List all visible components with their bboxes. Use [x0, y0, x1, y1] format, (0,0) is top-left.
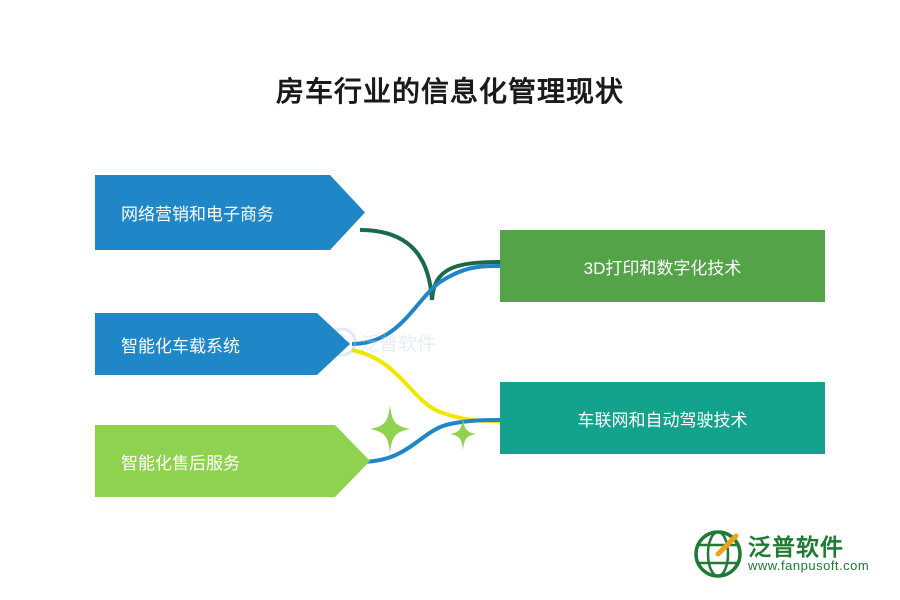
left-item-1-label: 智能化车载系统	[121, 332, 240, 357]
brand-logo: 泛普软件 www.fanpusoft.com	[692, 526, 882, 582]
left-item-0-label: 网络营销和电子商务	[121, 200, 274, 225]
right-item-1-label: 车联网和自动驾驶技术	[578, 406, 748, 431]
left-item-0[interactable]: 网络营销和电子商务	[95, 175, 365, 250]
left-item-1[interactable]: 智能化车载系统	[95, 313, 350, 375]
right-item-1[interactable]: 车联网和自动驾驶技术	[500, 382, 825, 454]
left-item-2[interactable]: 智能化售后服务	[95, 425, 370, 497]
right-item-0[interactable]: 3D打印和数字化技术	[500, 230, 825, 302]
diagram-canvas: 房车行业的信息化管理现状 泛普软件 网络营销和电子商务 智能化车载系统	[0, 0, 900, 600]
logo-url: www.fanpusoft.com	[748, 558, 869, 573]
right-item-0-label: 3D打印和数字化技术	[584, 254, 742, 279]
sparkle-icon	[450, 418, 476, 450]
logo-name: 泛普软件	[748, 528, 844, 562]
svg-text:泛普软件: 泛普软件	[360, 333, 436, 355]
globe-icon	[692, 528, 744, 580]
left-item-2-label: 智能化售后服务	[121, 449, 240, 474]
sparkle-icon	[370, 405, 410, 453]
